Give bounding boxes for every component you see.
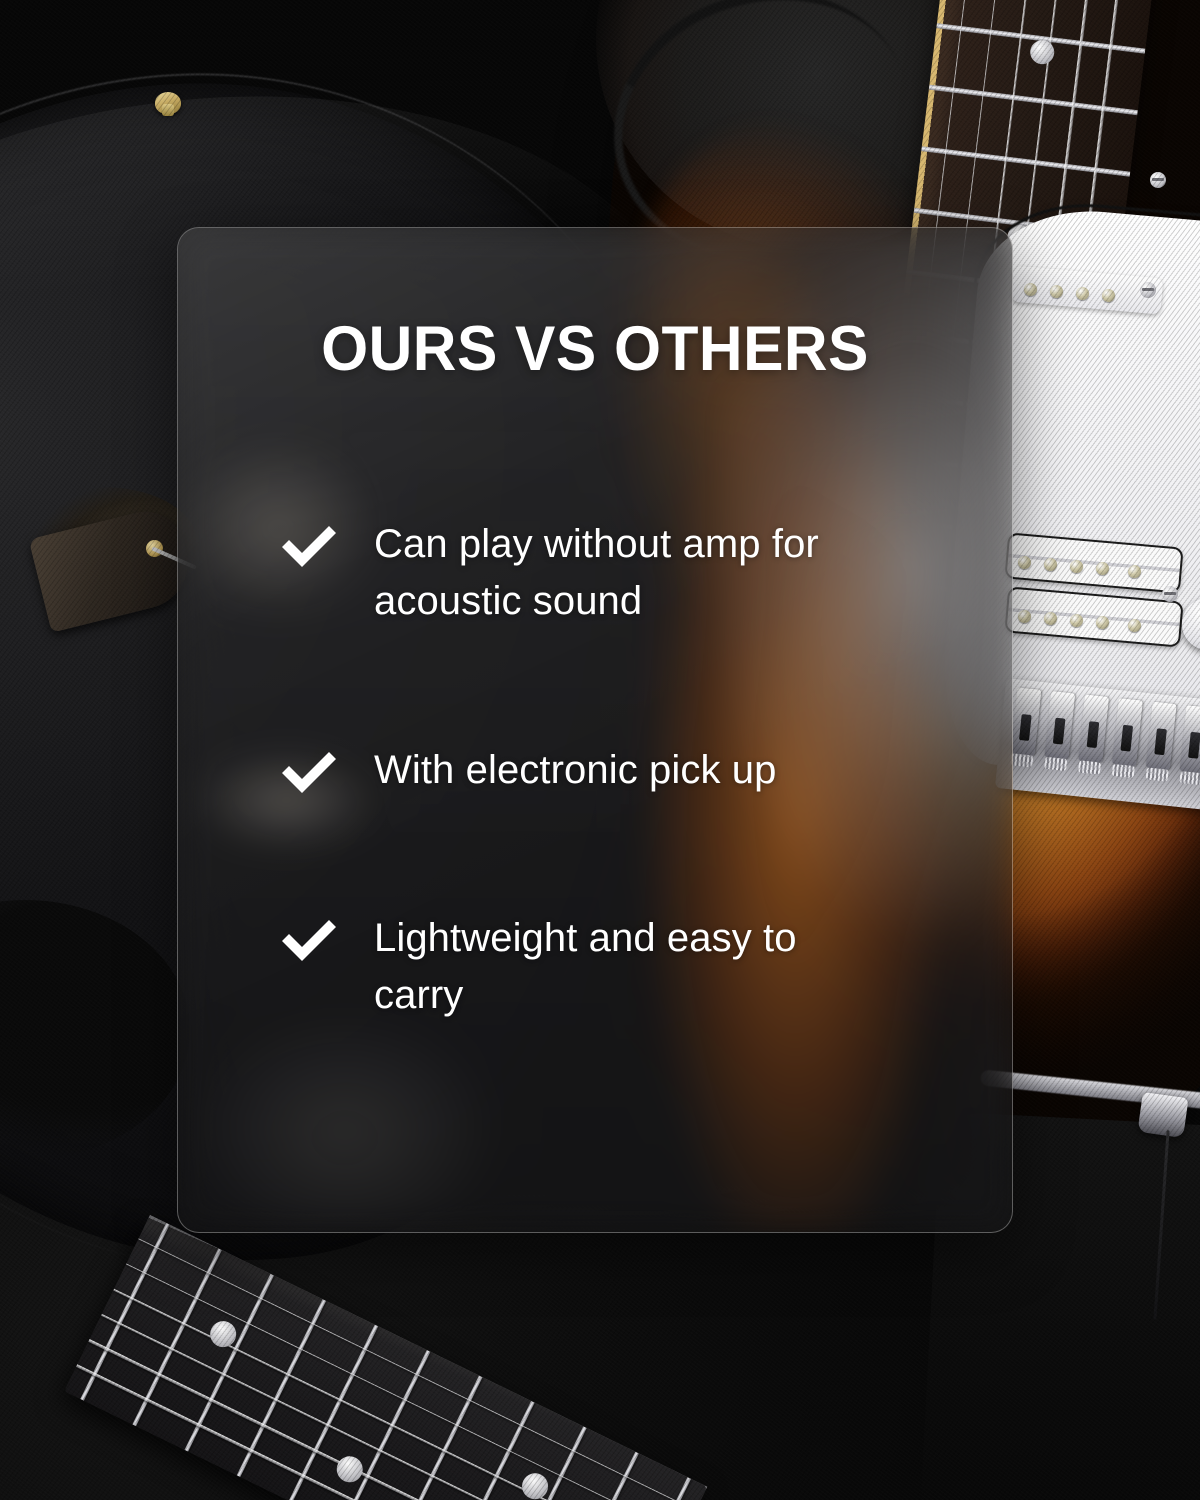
- page-title: OURS VS OTHERS: [195, 318, 996, 381]
- comparison-card: OURS VS OTHERS Can play without amp for …: [177, 227, 1013, 1233]
- benefit-text: Can play without amp for acoustic sound: [374, 516, 894, 630]
- benefits-list: Can play without amp for acoustic sound …: [278, 516, 964, 1024]
- checkmark-icon: [278, 520, 340, 572]
- list-item: Lightweight and easy to carry: [278, 910, 964, 1024]
- list-item: With electronic pick up: [278, 742, 964, 799]
- card-content: OURS VS OTHERS Can play without amp for …: [178, 228, 1012, 1232]
- checkmark-icon: [278, 914, 340, 966]
- benefit-text: With electronic pick up: [374, 742, 776, 799]
- poster-canvas: OURS VS OTHERS Can play without amp for …: [0, 0, 1200, 1500]
- checkmark-icon: [278, 746, 340, 798]
- list-item: Can play without amp for acoustic sound: [278, 516, 964, 630]
- benefit-text: Lightweight and easy to carry: [374, 910, 894, 1024]
